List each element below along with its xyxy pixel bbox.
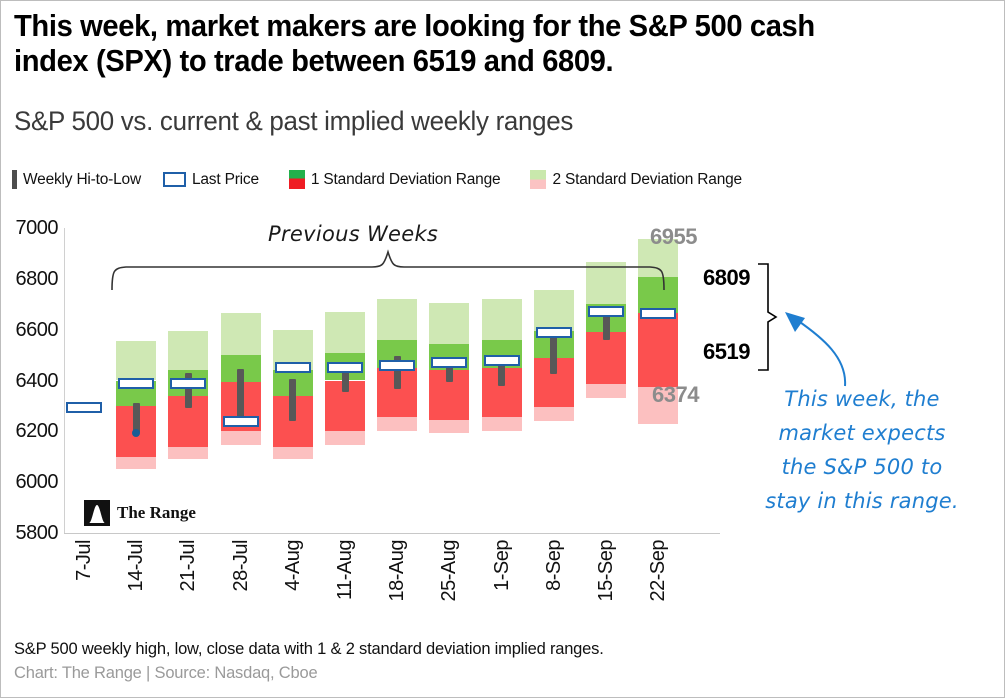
seg-2sd-high-1-Sep bbox=[482, 299, 522, 340]
note-arrow bbox=[775, 300, 885, 390]
headline: This week, market makers are looking for… bbox=[14, 8, 860, 79]
one-sd-swatch-icon bbox=[289, 170, 305, 189]
x-axis-tick-14-Jul: 14-Jul bbox=[125, 540, 148, 591]
legend-label-one-sd-range: 1 Standard Deviation Range bbox=[311, 171, 501, 189]
hi-lo-line-4-Aug[interactable] bbox=[289, 379, 296, 421]
seg-2sd-high-8-Sep bbox=[534, 290, 574, 331]
y-axis-tick-6000: 6000 bbox=[4, 471, 58, 494]
x-axis-tick-22-Sep: 22-Sep bbox=[647, 540, 670, 602]
x-axis-tick-8-Sep: 8-Sep bbox=[543, 540, 566, 591]
x-axis-tick-1-Sep: 1-Sep bbox=[491, 540, 514, 591]
y-axis-tick-5800: 5800 bbox=[4, 522, 58, 545]
seg-2sd-low-8-Sep bbox=[534, 407, 574, 420]
footer-description: S&P 500 weekly high, low, close data wit… bbox=[14, 640, 604, 659]
bell-curve-icon bbox=[84, 500, 112, 526]
last-price-marker-21-Jul[interactable] bbox=[170, 378, 206, 389]
last-price-marker-15-Sep[interactable] bbox=[588, 306, 624, 317]
seg-2sd-low-28-Jul bbox=[221, 431, 261, 444]
weekly-low-dot-14-Jul bbox=[132, 429, 140, 437]
x-axis-tick-15-Sep: 15-Sep bbox=[595, 540, 618, 602]
seg-2sd-high-11-Aug bbox=[325, 312, 365, 353]
last-price-marker-1-Sep[interactable] bbox=[484, 355, 520, 366]
x-axis-tick-7-Jul: 7-Jul bbox=[73, 540, 96, 581]
seg-2sd-low-11-Aug bbox=[325, 431, 365, 445]
last-price-box-icon bbox=[163, 172, 186, 187]
y-axis: 5800600062006400660068007000 bbox=[0, 228, 58, 534]
seg-1sd-low-15-Sep bbox=[586, 332, 626, 384]
last-price-marker-22-Sep[interactable] bbox=[640, 308, 676, 319]
seg-2sd-high-25-Aug bbox=[429, 303, 469, 344]
seg-2sd-low-14-Jul bbox=[116, 457, 156, 470]
x-axis-tick-4-Aug: 4-Aug bbox=[282, 540, 305, 591]
last-price-marker-11-Aug[interactable] bbox=[327, 362, 363, 373]
legend-label-weekly-hi-to-low: Weekly Hi-to-Low bbox=[23, 171, 141, 189]
seg-2sd-low-15-Sep bbox=[586, 384, 626, 398]
x-axis-tick-25-Aug: 25-Aug bbox=[438, 540, 461, 602]
the-range-logo: The Range bbox=[84, 500, 196, 526]
y-axis-tick-6800: 6800 bbox=[4, 268, 58, 291]
previous-weeks-label: Previous Weeks bbox=[268, 222, 438, 246]
annotation-top-2sd: 6955 bbox=[650, 224, 697, 250]
last-price-marker-25-Aug[interactable] bbox=[431, 357, 467, 368]
y-axis-tick-6200: 6200 bbox=[4, 420, 58, 443]
x-axis-tick-21-Jul: 21-Jul bbox=[177, 540, 200, 591]
hilo-bar-icon bbox=[12, 170, 17, 189]
annotation-lower-1sd: 6519 bbox=[703, 339, 750, 365]
last-price-marker-7-Jul[interactable] bbox=[66, 402, 102, 413]
legend-label-last-price: Last Price bbox=[192, 171, 259, 189]
this-week-note: This week, the market expects the S&P 50… bbox=[762, 382, 962, 518]
seg-2sd-low-18-Aug bbox=[377, 417, 417, 431]
legend-item-weekly-hi-to-low[interactable]: Weekly Hi-to-Low bbox=[12, 170, 141, 189]
subheadline: S&P 500 vs. current & past implied weekl… bbox=[14, 106, 936, 137]
seg-2sd-high-28-Jul bbox=[221, 313, 261, 355]
seg-2sd-high-21-Jul bbox=[168, 331, 208, 370]
last-price-marker-14-Jul[interactable] bbox=[118, 378, 154, 389]
seg-2sd-low-4-Aug bbox=[273, 447, 313, 460]
legend-item-two-sd-range[interactable]: 2 Standard Deviation Range bbox=[530, 170, 742, 189]
x-axis-tick-28-Jul: 28-Jul bbox=[230, 540, 253, 591]
y-axis-tick-6600: 6600 bbox=[4, 319, 58, 342]
last-price-marker-4-Aug[interactable] bbox=[275, 362, 311, 373]
legend-item-one-sd-range[interactable]: 1 Standard Deviation Range bbox=[289, 170, 501, 189]
logo-text: The Range bbox=[117, 503, 196, 523]
last-price-marker-28-Jul[interactable] bbox=[223, 416, 259, 427]
seg-2sd-low-1-Sep bbox=[482, 417, 522, 431]
seg-2sd-high-14-Jul bbox=[116, 341, 156, 380]
two-sd-swatch-icon bbox=[530, 170, 546, 189]
seg-2sd-low-21-Jul bbox=[168, 447, 208, 460]
seg-2sd-low-25-Aug bbox=[429, 420, 469, 433]
last-price-marker-8-Sep[interactable] bbox=[536, 327, 572, 338]
footer-source: Chart: The Range | Source: Nasdaq, Cboe bbox=[14, 664, 317, 683]
legend-label-two-sd-range: 2 Standard Deviation Range bbox=[552, 171, 742, 189]
previous-weeks-brace bbox=[110, 248, 670, 290]
y-axis-tick-7000: 7000 bbox=[4, 217, 58, 240]
annotation-bottom-2sd: 6374 bbox=[652, 382, 699, 408]
x-axis-tick-18-Aug: 18-Aug bbox=[386, 540, 409, 602]
legend-item-last-price[interactable]: Last Price bbox=[163, 171, 259, 189]
chart-legend: Weekly Hi-to-Low Last Price 1 Standard D… bbox=[12, 170, 742, 189]
y-axis-tick-6400: 6400 bbox=[4, 370, 58, 393]
seg-2sd-high-18-Aug bbox=[377, 299, 417, 340]
annotation-upper-1sd: 6809 bbox=[703, 265, 750, 291]
last-price-marker-18-Aug[interactable] bbox=[379, 360, 415, 371]
seg-1sd-low-22-Sep bbox=[638, 313, 678, 387]
x-axis-tick-11-Aug: 11-Aug bbox=[334, 540, 357, 600]
